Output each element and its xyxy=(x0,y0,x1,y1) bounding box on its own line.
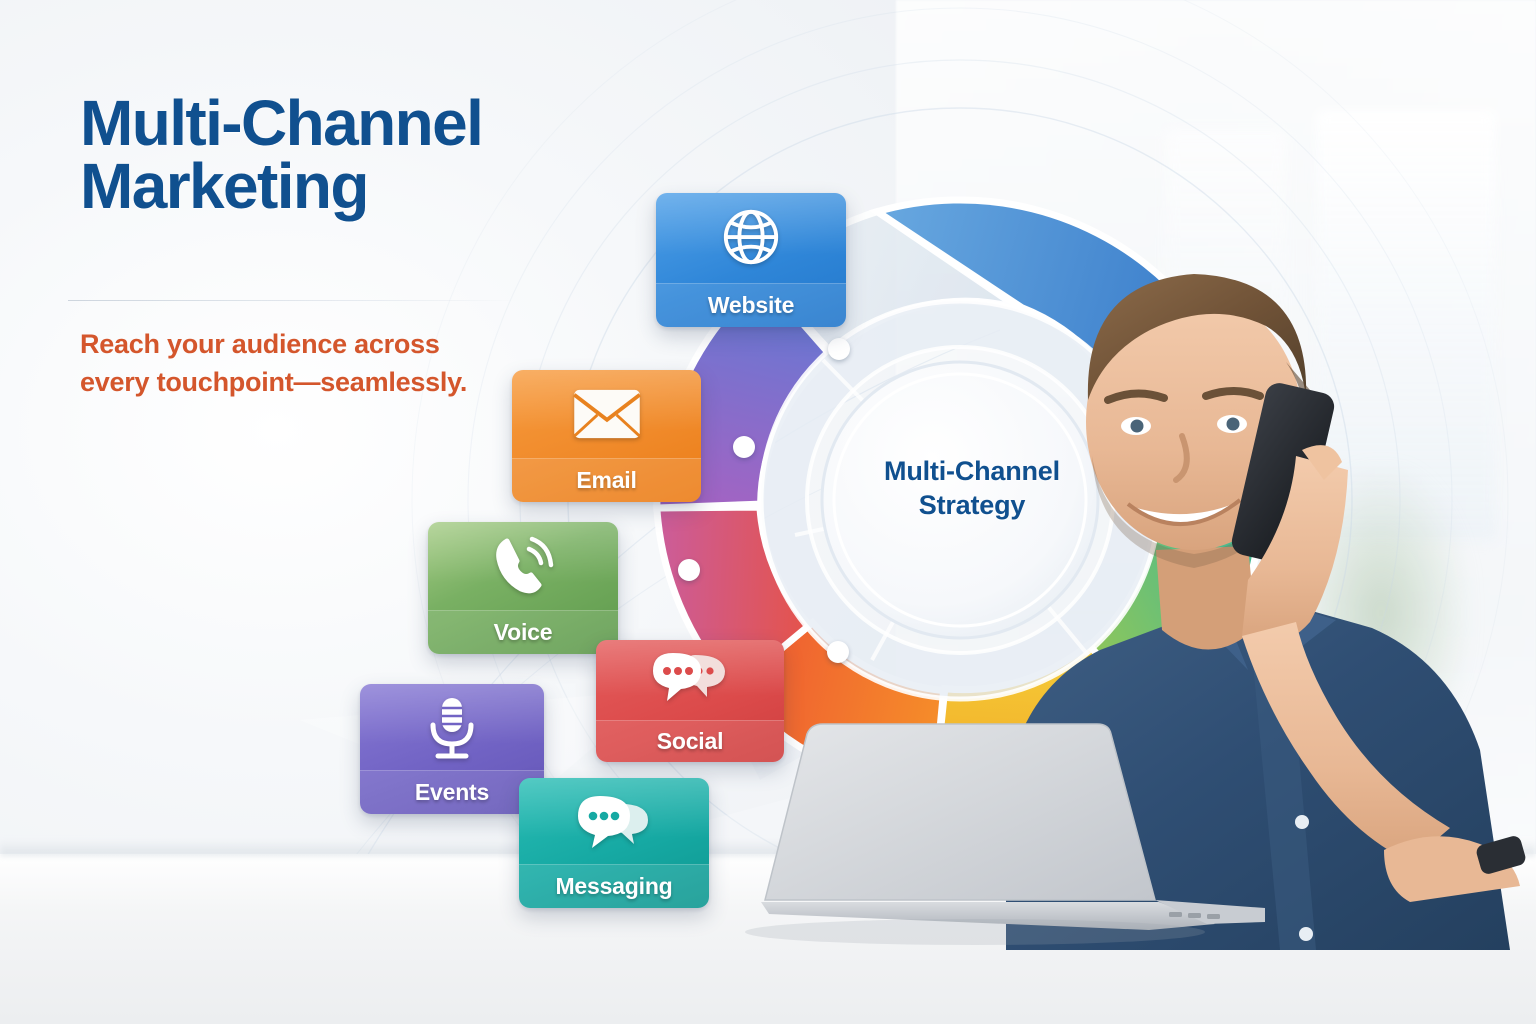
channel-card-messaging[interactable]: Messaging xyxy=(519,778,709,908)
card-label-bar: Social xyxy=(596,720,784,762)
laptop xyxy=(745,718,1265,948)
channel-label: Social xyxy=(657,728,724,755)
envelope-icon xyxy=(512,370,701,458)
channel-label: Messaging xyxy=(555,873,672,900)
hub-label-line1: Multi-Channel xyxy=(862,455,1082,489)
card-label-bar: Messaging xyxy=(519,864,709,908)
microphone-icon xyxy=(360,684,544,772)
hub-label-line2: Strategy xyxy=(862,489,1082,523)
globe-icon xyxy=(656,193,846,281)
connector-dot-website xyxy=(828,338,850,360)
marketing-hero-graphic: Multi-Channel Strategy xyxy=(0,0,1536,1024)
connector-dot-email xyxy=(733,436,755,458)
connector-dot-voice xyxy=(678,559,700,581)
double-speech-bubble-icon xyxy=(596,640,784,714)
page-title: Multi-Channel Marketing xyxy=(80,92,620,217)
channel-card-email[interactable]: Email xyxy=(512,370,701,502)
speech-bubble-icon xyxy=(519,778,709,866)
channel-card-website[interactable]: Website xyxy=(656,193,846,327)
card-label-bar: Voice xyxy=(428,610,618,654)
hub-center-label: Multi-Channel Strategy xyxy=(862,455,1082,523)
channel-card-social[interactable]: Social xyxy=(596,640,784,762)
phone-handset-icon xyxy=(428,522,618,610)
channel-label: Events xyxy=(415,779,489,806)
title-divider xyxy=(68,300,518,301)
channel-label: Email xyxy=(576,467,636,494)
connector-dot-social xyxy=(827,641,849,663)
card-label-bar: Website xyxy=(656,283,846,327)
subtitle: Reach your audience across every touchpo… xyxy=(80,325,510,402)
headline-line2: Marketing xyxy=(80,155,620,218)
channel-card-voice[interactable]: Voice xyxy=(428,522,618,654)
card-label-bar: Email xyxy=(512,458,701,502)
card-label-bar: Events xyxy=(360,770,544,814)
channel-card-events[interactable]: Events xyxy=(360,684,544,814)
channel-label: Website xyxy=(708,292,794,319)
headline-line1: Multi-Channel xyxy=(80,92,620,155)
channel-label: Voice xyxy=(494,619,553,646)
